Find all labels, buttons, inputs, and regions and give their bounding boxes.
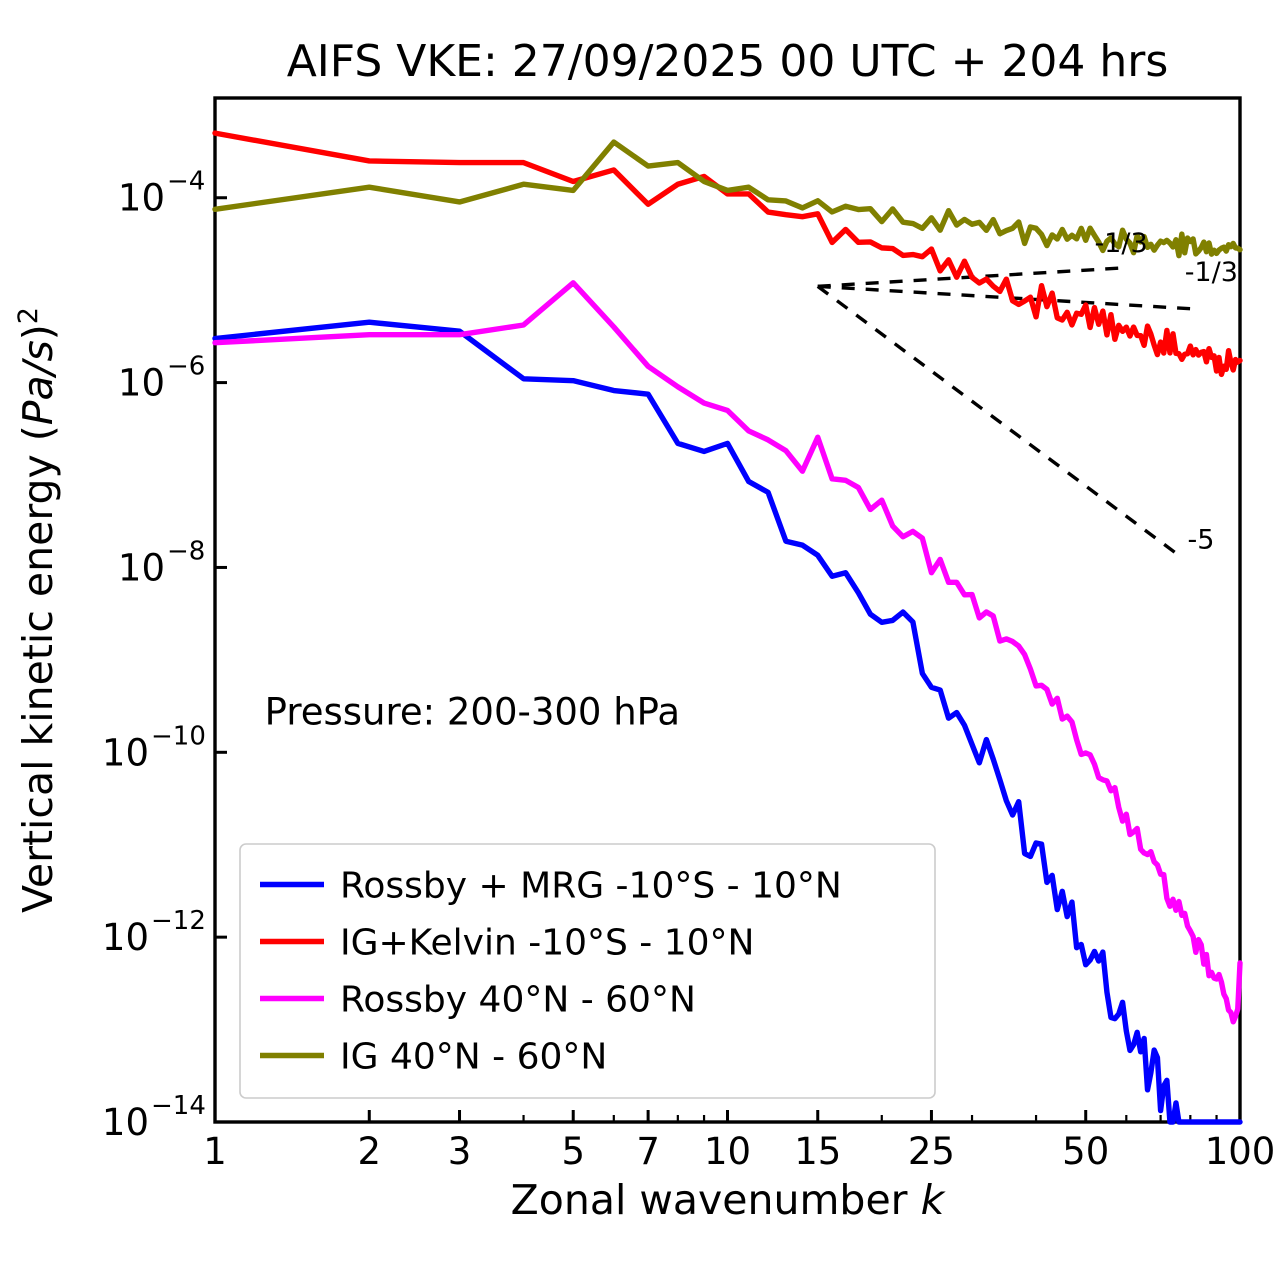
y-tick-label--6: 10−6	[118, 352, 205, 405]
svg-text:10: 10	[102, 731, 149, 774]
legend-item-ig-kelvin-label: IG+Kelvin -10°S - 10°N	[340, 923, 754, 964]
svg-text:10: 10	[118, 546, 165, 589]
y-tick-label--14: 10−14	[102, 1091, 206, 1144]
slope-label-minus5: -5	[1188, 525, 1215, 556]
y-tick-label--12: 10−12	[102, 906, 206, 959]
y-tick-label--10: 10−10	[102, 721, 206, 774]
legend-item-ig-mid-label: IG 40°N - 60°N	[340, 1037, 607, 1078]
x-axis-label: Zonal wavenumber k	[511, 1176, 947, 1224]
y-tick-label--8: 10−8	[118, 536, 205, 589]
svg-text:10: 10	[102, 916, 149, 959]
legend-item-rossby-mrg-label: Rossby + MRG -10°S - 10°N	[340, 866, 842, 907]
x-tick-label-2: 2	[358, 1130, 382, 1173]
pressure-annotation: Pressure: 200-300 hPa	[265, 690, 680, 733]
x-tick-label-25: 25	[908, 1130, 955, 1173]
reference-lines-group	[818, 268, 1191, 556]
legend-item-rossby-mid-label: Rossby 40°N - 60°N	[340, 980, 696, 1021]
svg-text:10: 10	[118, 177, 165, 220]
figure-container: AIFS VKE: 27/09/2025 00 UTC + 204 hrs 12…	[0, 0, 1280, 1288]
x-tick-label-50: 50	[1062, 1130, 1109, 1173]
x-tick-labels-group: 1235710152550100	[203, 1130, 1275, 1173]
svg-text:10: 10	[102, 1101, 149, 1144]
x-tick-label-5: 5	[561, 1130, 585, 1173]
svg-text:−4: −4	[167, 167, 205, 197]
svg-text:−10: −10	[151, 721, 206, 751]
chart-title: AIFS VKE: 27/09/2025 00 UTC + 204 hrs	[287, 36, 1169, 87]
x-tick-label-1: 1	[203, 1130, 227, 1173]
x-axis-label-group: Zonal wavenumber k	[511, 1176, 947, 1224]
svg-text:−12: −12	[151, 906, 206, 936]
x-tick-label-10: 10	[704, 1130, 751, 1173]
chart-title-group: AIFS VKE: 27/09/2025 00 UTC + 204 hrs	[287, 36, 1169, 87]
y-tick-label--4: 10−4	[118, 167, 205, 220]
svg-text:10: 10	[118, 362, 165, 405]
x-tick-label-3: 3	[448, 1130, 472, 1173]
svg-text:−14: −14	[151, 1091, 206, 1121]
x-tick-label-15: 15	[794, 1130, 841, 1173]
chart-canvas: AIFS VKE: 27/09/2025 00 UTC + 204 hrs 12…	[0, 0, 1280, 1288]
y-tick-labels-group: 10−410−610−810−1010−1210−14	[102, 167, 206, 1144]
x-tick-label-100: 100	[1205, 1130, 1276, 1173]
series-line-1	[215, 133, 1240, 374]
svg-text:−6: −6	[167, 352, 205, 382]
x-tick-label-7: 7	[636, 1130, 660, 1173]
legend-item-rossby-mrg[interactable]: Rossby + MRG -10°S - 10°N	[260, 866, 842, 907]
slope-label-upper: -1/3	[1094, 228, 1147, 259]
y-axis-label-group: Vertical kinetic energy (Pa/s)2	[13, 307, 63, 913]
legend-group: Rossby + MRG -10°S - 10°NIG+Kelvin -10°S…	[240, 844, 935, 1098]
slope-label-lower: -1/3	[1185, 257, 1238, 288]
svg-text:−8: −8	[167, 536, 205, 566]
ref-slope-lower	[818, 286, 1191, 308]
y-axis-label: Vertical kinetic energy (Pa/s)2	[13, 307, 63, 913]
